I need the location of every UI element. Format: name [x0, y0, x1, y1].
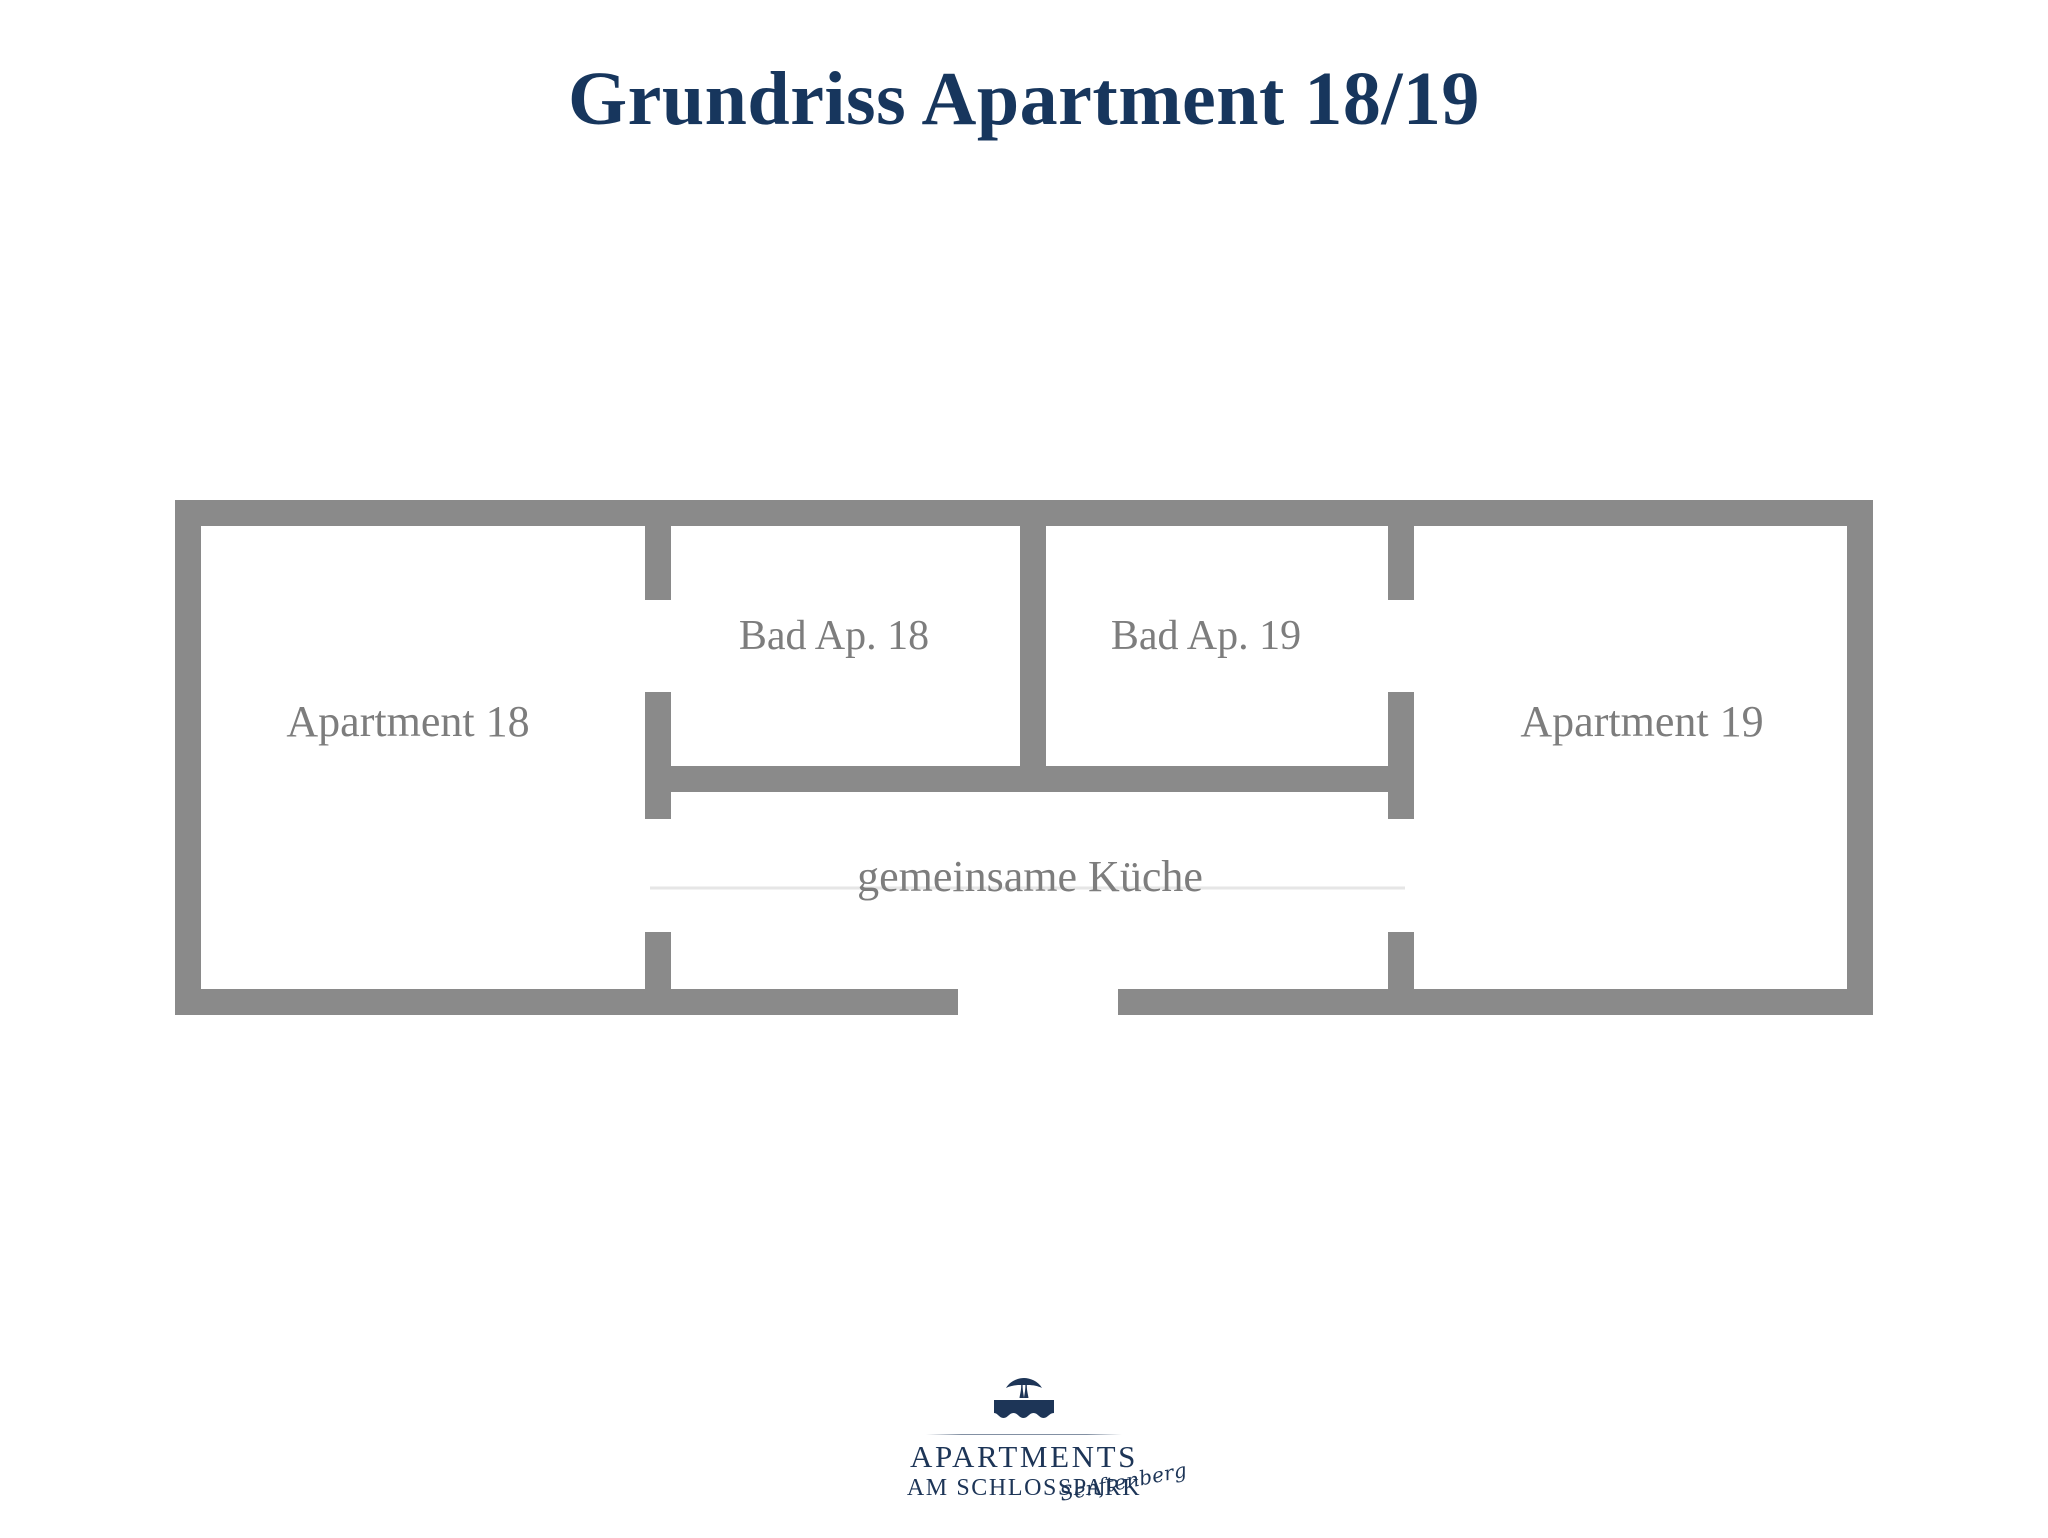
- wall-exterior-right: [1847, 500, 1873, 1015]
- floorplan-svg: [0, 0, 2048, 1538]
- wall-exterior-bottom-right: [1118, 989, 1873, 1015]
- room-label-gemeinsame-kueche: gemeinsame Küche: [640, 855, 1420, 899]
- room-label-apartment-19: Apartment 19: [1412, 700, 1872, 744]
- wall-partition-left-top: [645, 500, 671, 600]
- room-label-bad-ap-18: Bad Ap. 18: [660, 615, 1008, 657]
- wall-partition-left-bottom: [645, 932, 671, 1015]
- wall-partition-right-top: [1388, 500, 1414, 600]
- wall-exterior-bottom-left: [175, 989, 958, 1015]
- brand-logo: APARTMENTS AM SCHLOSSPARK Senftenberg: [874, 1372, 1174, 1518]
- wall-partition-right-bottom: [1388, 932, 1414, 1015]
- wall-partition-left-middle: [645, 692, 671, 819]
- logo-divider-rule: [926, 1434, 1122, 1435]
- floorplan-diagram: [0, 0, 2048, 1538]
- walls: [175, 500, 1873, 1015]
- tree-emblem-icon: [976, 1372, 1072, 1430]
- wall-partition-right-middle: [1388, 692, 1414, 819]
- room-label-bad-ap-19: Bad Ap. 19: [1032, 615, 1380, 657]
- wall-exterior-left: [175, 500, 201, 1015]
- logo-text-row-2: AM SCHLOSSPARK Senftenberg: [874, 1476, 1174, 1518]
- room-label-apartment-18: Apartment 18: [178, 700, 638, 744]
- wall-kitchen-divider: [645, 766, 1414, 792]
